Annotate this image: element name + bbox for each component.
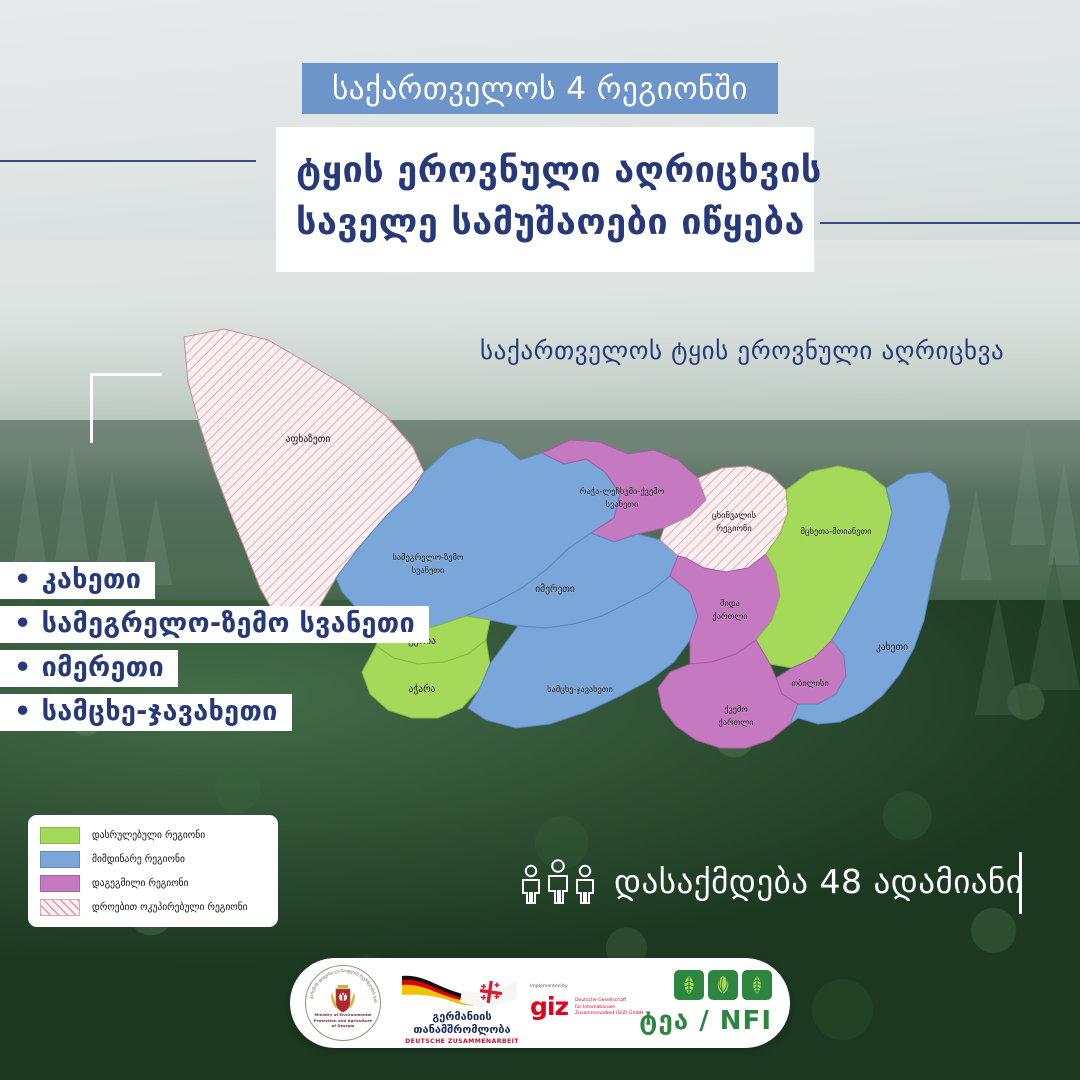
map-label-tskhinvali-1: ცხინვალის [712,510,756,520]
map-label-kakheti: კახეთი [876,642,908,653]
person-icon [544,858,572,904]
map-label-kvemo-kartli-1: ქვემო [724,704,748,714]
georgia-coat-of-arms-icon [330,984,356,1014]
german-cooperation-georgian-line-2: თანამშრომლობა [402,1023,522,1036]
people-group-icon [518,858,598,904]
leaf-icon [674,970,704,1000]
map-label-racha-1: რაჭა-ლეჩხუმი-ქვემო [580,486,665,496]
map-label-shida-kartli-1: შიდა [720,598,740,608]
giz-logo: Implemented by giz Deutsche Gesellschaft… [528,964,640,1042]
map-label-tbilisi: თბილისი [791,678,828,688]
legend-row-planned: დაგეგმილი რეგიონი [40,873,266,894]
legend-label-occupied: დროებით ოკუპირებული რეგიონი [92,902,248,913]
giz-implemented-by-label: Implemented by [530,984,568,989]
eyebrow-banner: საქართველოს 4 რეგიონში [302,63,778,114]
german-cooperation-text: გერმანიის თანამშრომლობა DEUTSCHE ZUSAMME… [402,1010,522,1045]
map-label-samegrelo-1: სამეგრელო-ზემო [393,552,464,562]
eyebrow-text: საქართველოს 4 რეგიონში [332,71,748,107]
leaf-icon [742,970,772,1000]
legend-swatch-occupied [40,899,80,916]
german-cooperation-logo: გერმანიის თანამშრომლობა DEUTSCHE ZUSAMME… [392,964,520,1042]
list-item: სამცხე-ჯავახეთი [0,694,292,731]
decor-rule-left [0,160,256,162]
map-legend: დასრულებული რეგიონი მიმდინარე რეგიონი და… [28,815,278,927]
nfi-label: ტეა / NFI [639,1006,772,1036]
headline-line-2: საველე სამუშაოები იწყება [296,197,794,249]
legend-label-completed: დასრულებული რეგიონი [92,830,205,841]
person-icon [572,864,598,904]
seal-caption-line-1: Ministry of Environmental [304,1012,382,1017]
ministry-seal-logo: გარემოს დაცვისა და სოფლის მეურნეობის სამ… [304,964,382,1042]
map-label-abkhazia: აფხაზეთი [286,434,331,445]
employment-text: დასაქმდება 48 ადამიანი [614,862,1023,901]
legend-swatch-current [40,851,80,868]
seal-caption-line-3: of Georgia [304,1023,382,1028]
map-label-racha-2: სვანეთი [606,499,639,509]
person-icon [518,864,544,904]
german-cooperation-georgian-line-1: გერმანიის [402,1010,522,1023]
map-label-kvemo-kartli-2: ქართლი [718,717,753,727]
headline-line-1: ტყის ეროვნული აღრიცხვის [296,145,794,197]
map-label-shida-kartli-2: ქართლი [712,611,747,621]
map-label-imereti: იმერეთი [535,584,575,595]
nfi-logo: ტეა / NFI [640,964,776,1042]
legend-swatch-planned [40,875,80,892]
list-item: იმერეთი [0,650,178,687]
legend-row-completed: დასრულებული რეგიონი [40,825,266,846]
german-georgian-flag-ribbon-icon [400,972,518,1010]
legend-row-occupied: დროებით ოკუპირებული რეგიონი [40,897,266,918]
giz-desc-line-3: Zusammenarbeit (GIZ) GmbH [575,1011,635,1018]
map-label-tskhinvali-2: რეგიონი [716,523,751,533]
giz-wordmark: giz [530,994,568,1019]
seal-caption: Ministry of Environmental Protection and… [304,1012,382,1028]
legend-label-current: მიმდინარე რეგიონი [92,854,185,865]
selected-regions-list: კახეთი სამეგრელო-ზემო სვანეთი იმერეთი სა… [0,562,429,738]
german-cooperation-latin: DEUTSCHE ZUSAMMENARBEIT [402,1038,522,1045]
nfi-leaf-group [674,970,772,1000]
decor-rule-right [820,222,1080,224]
map-label-mtskheta: მცხეთა-მთიანეთი [800,526,871,536]
footer-logo-bar: გარემოს დაცვისა და სოფლის მეურნეობის სამ… [290,958,790,1048]
legend-label-planned: დაგეგმილი რეგიონი [92,878,189,889]
list-item: კახეთი [0,562,155,599]
legend-row-current: მიმდინარე რეგიონი [40,849,266,870]
giz-desc-line-1: Deutsche Gesellschaft [575,998,635,1005]
employment-statement: დასაქმდება 48 ადამიანი [518,858,1023,904]
map-label-samtskhe: სამცხე-ჯავახეთი [547,684,613,694]
legend-swatch-completed [40,827,80,844]
leaf-icon [708,970,738,1000]
page-title: ტყის ეროვნული აღრიცხვის საველე სამუშაოებ… [276,127,814,272]
giz-description: Deutsche Gesellschaft für Internationale… [575,998,635,1018]
list-item: სამეგრელო-ზემო სვანეთი [0,606,429,643]
